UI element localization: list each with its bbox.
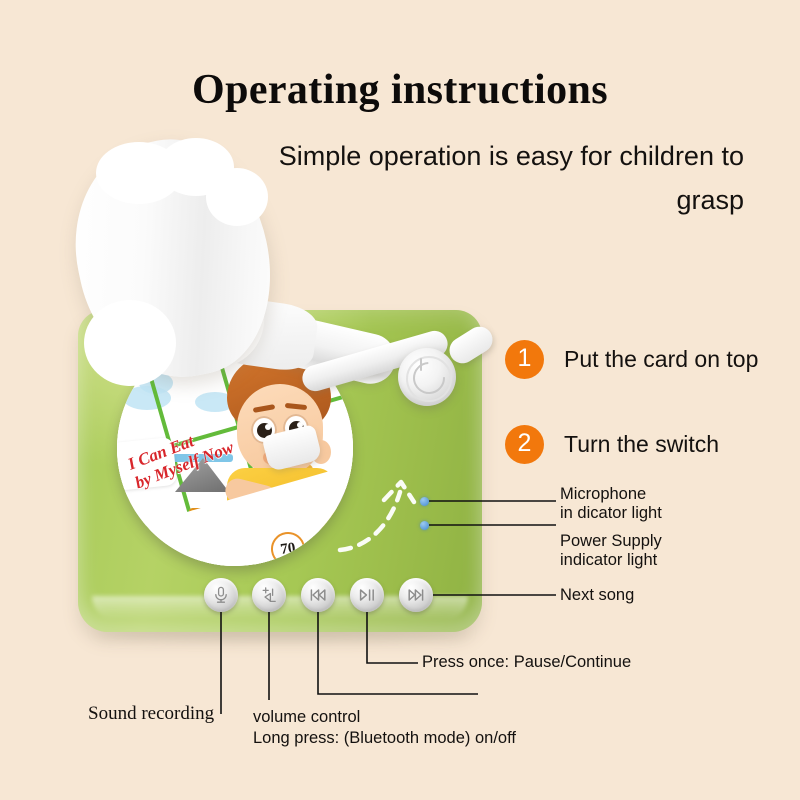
play-pause-button[interactable] — [350, 578, 384, 612]
step-2: 2 Turn the switch — [505, 425, 719, 464]
step-1: 1 Put the card on top — [505, 340, 758, 379]
step-2-badge: 2 — [505, 425, 544, 464]
infographic-canvas: I Can Eat by Myself Now 70 — [0, 0, 800, 800]
callout-press-once: Press once: Pause/Continue — [422, 653, 631, 672]
volume-control-button[interactable] — [252, 578, 286, 612]
step-1-label: Put the card on top — [564, 346, 758, 373]
next-track-icon — [407, 588, 425, 602]
rotary-switch[interactable] — [398, 348, 456, 406]
product-illustration: I Can Eat by Myself Now 70 — [0, 0, 800, 800]
previous-track-button[interactable] — [301, 578, 335, 612]
previous-track-icon — [309, 588, 327, 602]
page-subtitle: Simple operation is easy for children to… — [224, 134, 744, 222]
play-pause-icon — [358, 588, 376, 602]
volume-plus-minus-icon — [260, 586, 278, 604]
callout-sound-recording: Sound recording — [88, 704, 214, 723]
callout-volume-control: volume control Long press: (Bluetooth mo… — [253, 707, 516, 749]
callout-power-indicator: Power Supply indicator light — [560, 532, 662, 570]
sound-recording-button[interactable] — [204, 578, 238, 612]
power-supply-indicator-light — [420, 521, 429, 530]
step-1-badge: 1 — [505, 340, 544, 379]
mic-icon — [213, 586, 229, 604]
step-2-label: Turn the switch — [564, 431, 719, 458]
callout-microphone-indicator: Microphone in dicator light — [560, 485, 662, 523]
next-song-button[interactable] — [399, 578, 433, 612]
callout-next-song: Next song — [560, 586, 634, 605]
microphone-indicator-light — [420, 497, 429, 506]
page-title: Operating instructions — [0, 66, 800, 114]
